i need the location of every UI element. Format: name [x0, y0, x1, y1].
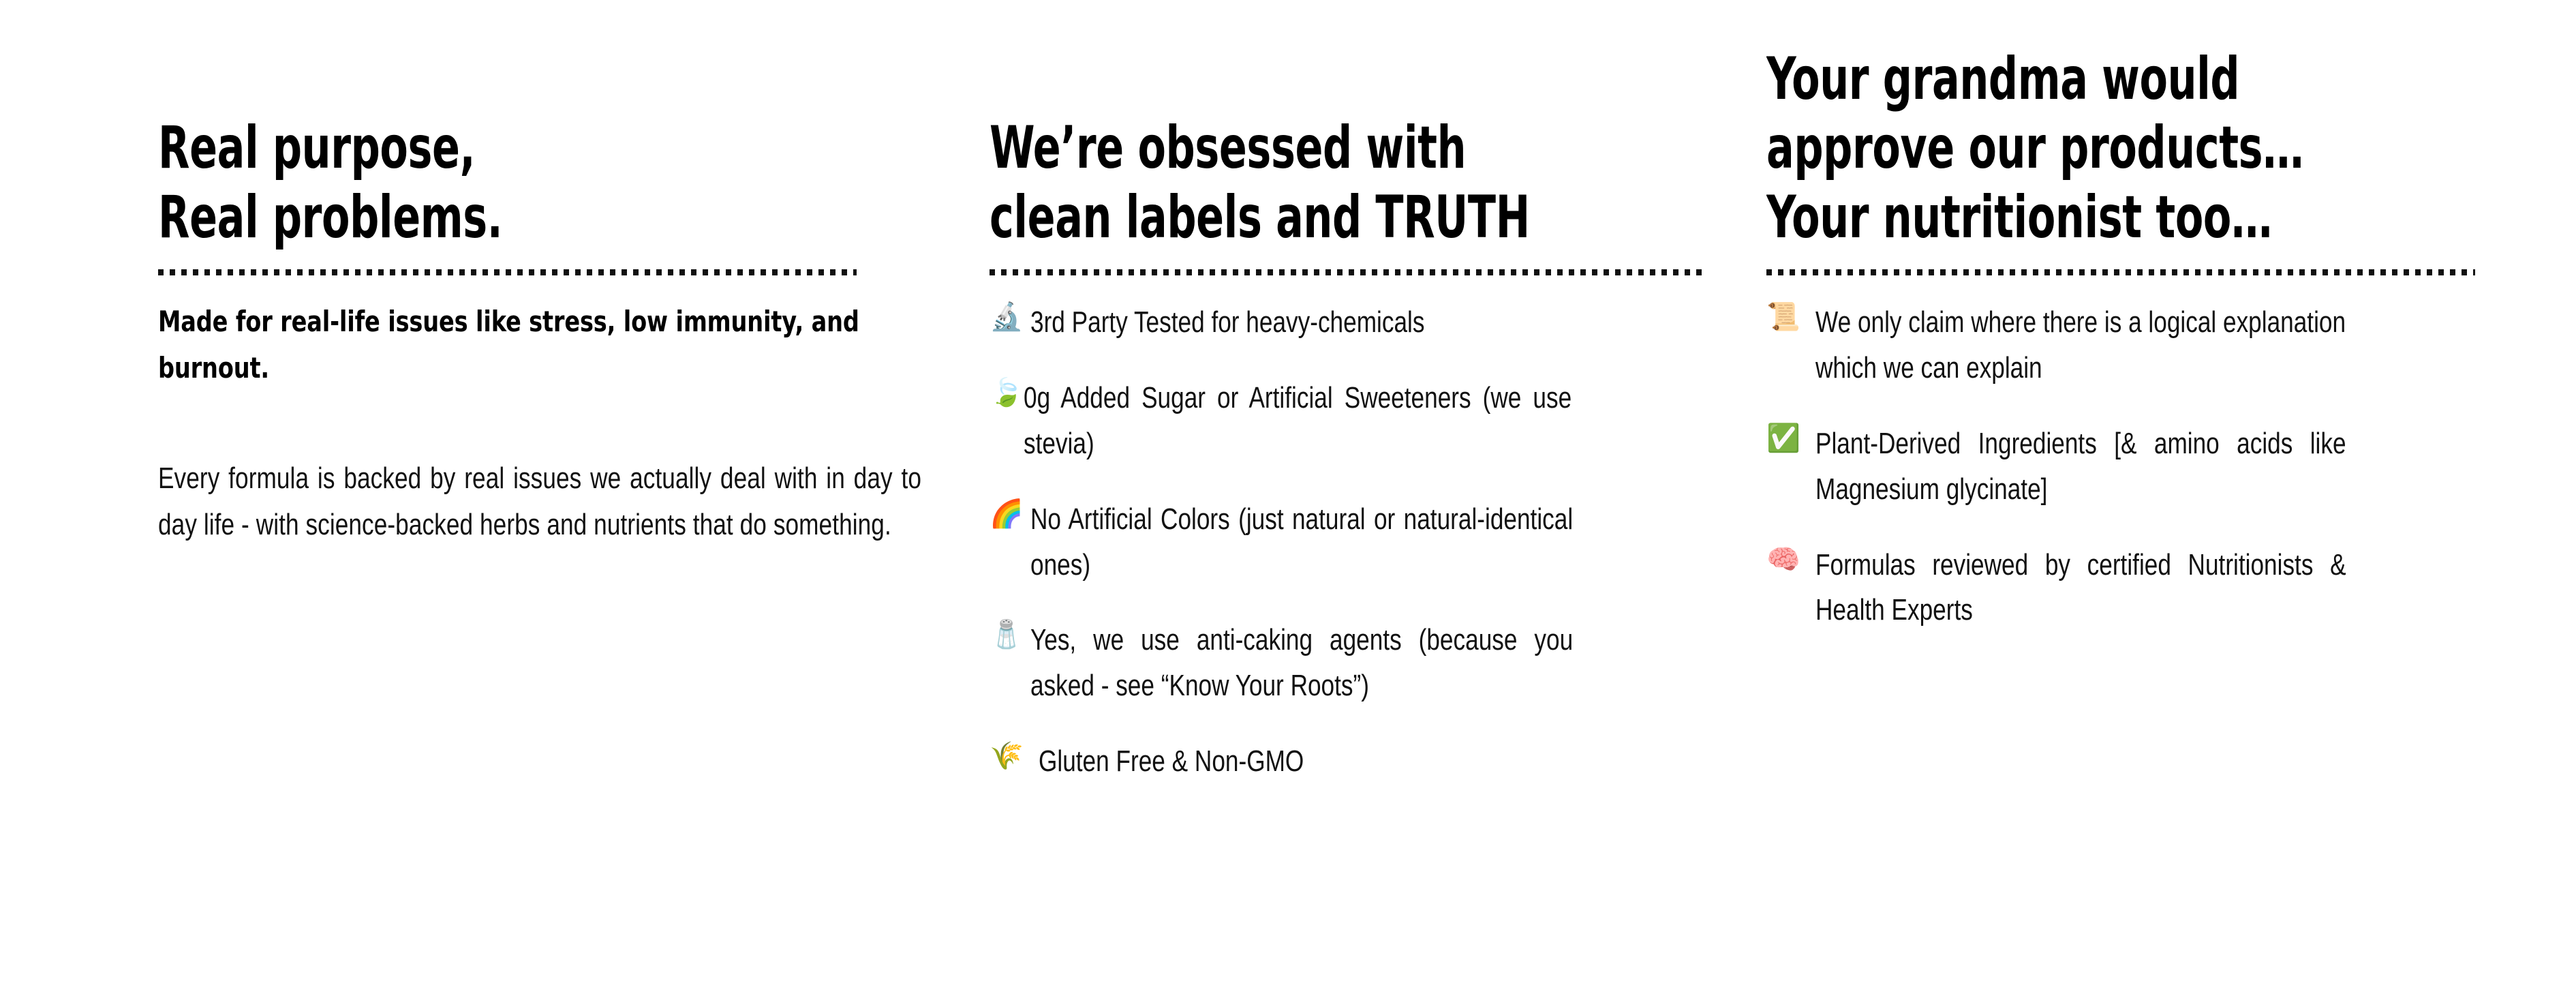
heading-wrap-grandma-approved: Your grandma would approve our products……	[1766, 0, 2479, 262]
list-item-label: Plant-Derived Ingredients [& amino acids…	[1815, 421, 2346, 513]
list-item-label: 3rd Party Tested for heavy-chemicals	[1030, 300, 1573, 346]
leaf-fluttering-icon: 🍃	[990, 376, 1024, 410]
list-item-label: Yes, we use anti-caking agents (because …	[1030, 618, 1573, 709]
list-item-label: Gluten Free & Non-GMO	[1039, 739, 1575, 785]
list-item: 🍃 0g Added Sugar or Artificial Sweetener…	[990, 376, 1708, 467]
list-item-label: Formulas reviewed by certified Nutrition…	[1815, 543, 2346, 634]
list-item: 🧠 Formulas reviewed by certified Nutriti…	[1766, 543, 2479, 634]
dotted-divider-1	[158, 269, 857, 275]
column-clean-labels: We’re obsessed with clean labels and TRU…	[990, 0, 1708, 785]
three-column-benefits-panel: Real purpose, Real problems. Made for re…	[0, 0, 2576, 981]
dotted-divider-3	[1766, 269, 2475, 275]
check-mark-button-icon: ✅	[1766, 421, 1800, 455]
sheaf-of-rice-icon: 🌾	[990, 739, 1024, 773]
brain-icon: 🧠	[1766, 543, 1800, 577]
list-item: 🌾 Gluten Free & Non-GMO	[990, 739, 1708, 785]
dotted-divider-2	[990, 269, 1705, 275]
salt-shaker-icon: 🧂	[990, 618, 1024, 652]
column-grandma-approved: Your grandma would approve our products……	[1766, 0, 2479, 633]
column-heading-clean-labels: We’re obsessed with clean labels and TRU…	[990, 114, 1550, 252]
column-real-purpose: Real purpose, Real problems. Made for re…	[158, 0, 921, 548]
microscope-icon: 🔬	[990, 300, 1024, 334]
list-item: 🔬 3rd Party Tested for heavy-chemicals	[990, 300, 1708, 346]
bullet-list-grandma-approved: 📜 We only claim where there is a logical…	[1766, 300, 2479, 633]
list-item-label: We only claim where there is a logical e…	[1815, 300, 2346, 391]
column-heading-grandma-approved: Your grandma would approve our products……	[1766, 45, 2322, 252]
list-item: 🌈 No Artificial Colors (just natural or …	[990, 497, 1708, 588]
paragraph-real-purpose: Every formula is backed by real issues w…	[158, 455, 921, 548]
scroll-icon: 📜	[1766, 300, 1800, 334]
subheading-real-purpose: Made for real-life issues like stress, l…	[158, 299, 921, 391]
rainbow-icon: 🌈	[990, 497, 1024, 531]
bullet-list-clean-labels: 🔬 3rd Party Tested for heavy-chemicals 🍃…	[990, 300, 1708, 785]
list-item: 📜 We only claim where there is a logical…	[1766, 300, 2479, 391]
list-item-label: 0g Added Sugar or Artificial Sweeteners …	[1024, 376, 1571, 467]
list-item: 🧂 Yes, we use anti-caking agents (becaus…	[990, 618, 1708, 709]
column-heading-real-purpose: Real purpose, Real problems.	[158, 114, 754, 252]
list-item-label: No Artificial Colors (just natural or na…	[1030, 497, 1573, 588]
list-item: ✅ Plant-Derived Ingredients [& amino aci…	[1766, 421, 2479, 513]
heading-wrap-real-purpose: Real purpose, Real problems.	[158, 0, 921, 262]
paragraph-spacer-1	[158, 397, 921, 455]
heading-wrap-clean-labels: We’re obsessed with clean labels and TRU…	[990, 0, 1708, 262]
